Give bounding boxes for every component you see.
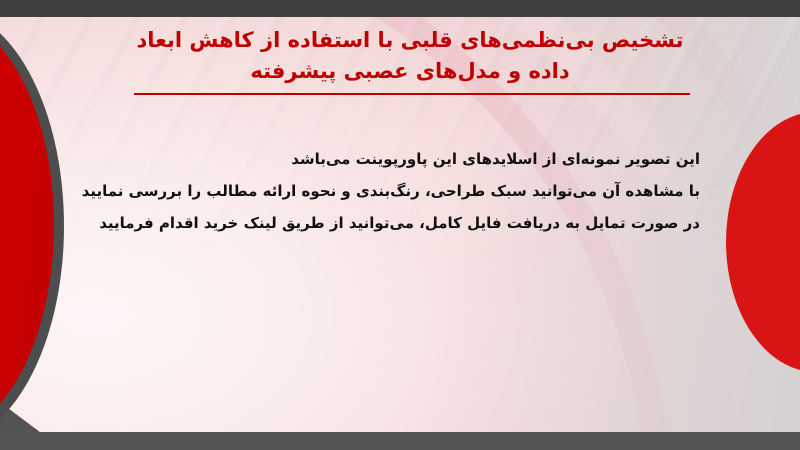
- slide-title: تشخیص بی‌نظمی‌های قلبی با استفاده از کاه…: [120, 25, 700, 87]
- slide-body-line-1: این تصویر نمونه‌ای از اسلایدهای این پاور…: [100, 143, 700, 175]
- slide-body-line-2: با مشاهده آن می‌توانید سبک طراحی، رنگ‌بن…: [100, 175, 700, 207]
- title-underline-rule: [134, 93, 690, 95]
- slide-body-text: این تصویر نمونه‌ای از اسلایدهای این پاور…: [100, 143, 700, 239]
- presentation-slide: تشخیص بی‌نظمی‌های قلبی با استفاده از کاه…: [0, 0, 800, 450]
- slide-body-line-3: در صورت تمایل به دریافت فایل کامل، می‌تو…: [100, 207, 700, 239]
- slide-content-panel: تشخیص بی‌نظمی‌های قلبی با استفاده از کاه…: [0, 17, 800, 432]
- slide-title-line-1: تشخیص بی‌نظمی‌های قلبی با استفاده از کاه…: [120, 25, 700, 56]
- slide-title-line-2: داده و مدل‌های عصبی پیشرفته: [120, 56, 700, 87]
